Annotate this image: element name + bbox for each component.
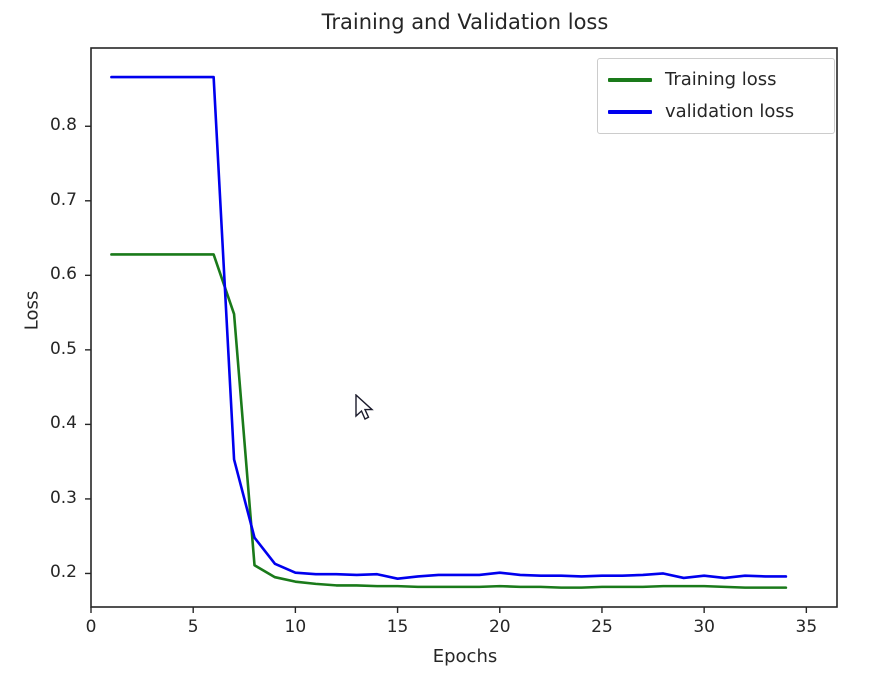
chart-legend: Training loss validation loss — [597, 58, 835, 134]
y-tick-label: 0.2 — [21, 562, 77, 582]
legend-entry-training-loss: Training loss — [608, 65, 777, 95]
legend-swatch-validation-loss — [608, 110, 652, 114]
y-tick-label: 0.7 — [21, 190, 77, 210]
legend-label-validation-loss: validation loss — [665, 103, 794, 121]
legend-entry-validation-loss: validation loss — [608, 97, 794, 127]
legend-swatch-training-loss — [608, 78, 652, 82]
y-tick-label: 0.6 — [21, 264, 77, 284]
x-tick-label: 0 — [71, 617, 111, 637]
x-tick-label: 5 — [173, 617, 213, 637]
series-line-training-loss — [111, 254, 785, 587]
matplotlib-figure: Training and Validation loss Loss Epochs… — [0, 0, 892, 680]
x-tick-label: 10 — [275, 617, 315, 637]
legend-label-training-loss: Training loss — [665, 71, 777, 89]
x-tick-label: 35 — [786, 617, 826, 637]
x-tick-label: 30 — [684, 617, 724, 637]
x-tick-label: 20 — [480, 617, 520, 637]
y-tick-label: 0.3 — [21, 488, 77, 508]
x-tick-label: 25 — [582, 617, 622, 637]
y-tick-label: 0.5 — [21, 339, 77, 359]
x-axis-label-text: Epochs — [433, 646, 498, 667]
x-axis-label: Epochs — [0, 646, 892, 667]
y-tick-label: 0.4 — [21, 413, 77, 433]
y-tick-label: 0.8 — [21, 115, 77, 135]
series-line-validation-loss — [111, 77, 785, 579]
x-tick-label: 15 — [378, 617, 418, 637]
